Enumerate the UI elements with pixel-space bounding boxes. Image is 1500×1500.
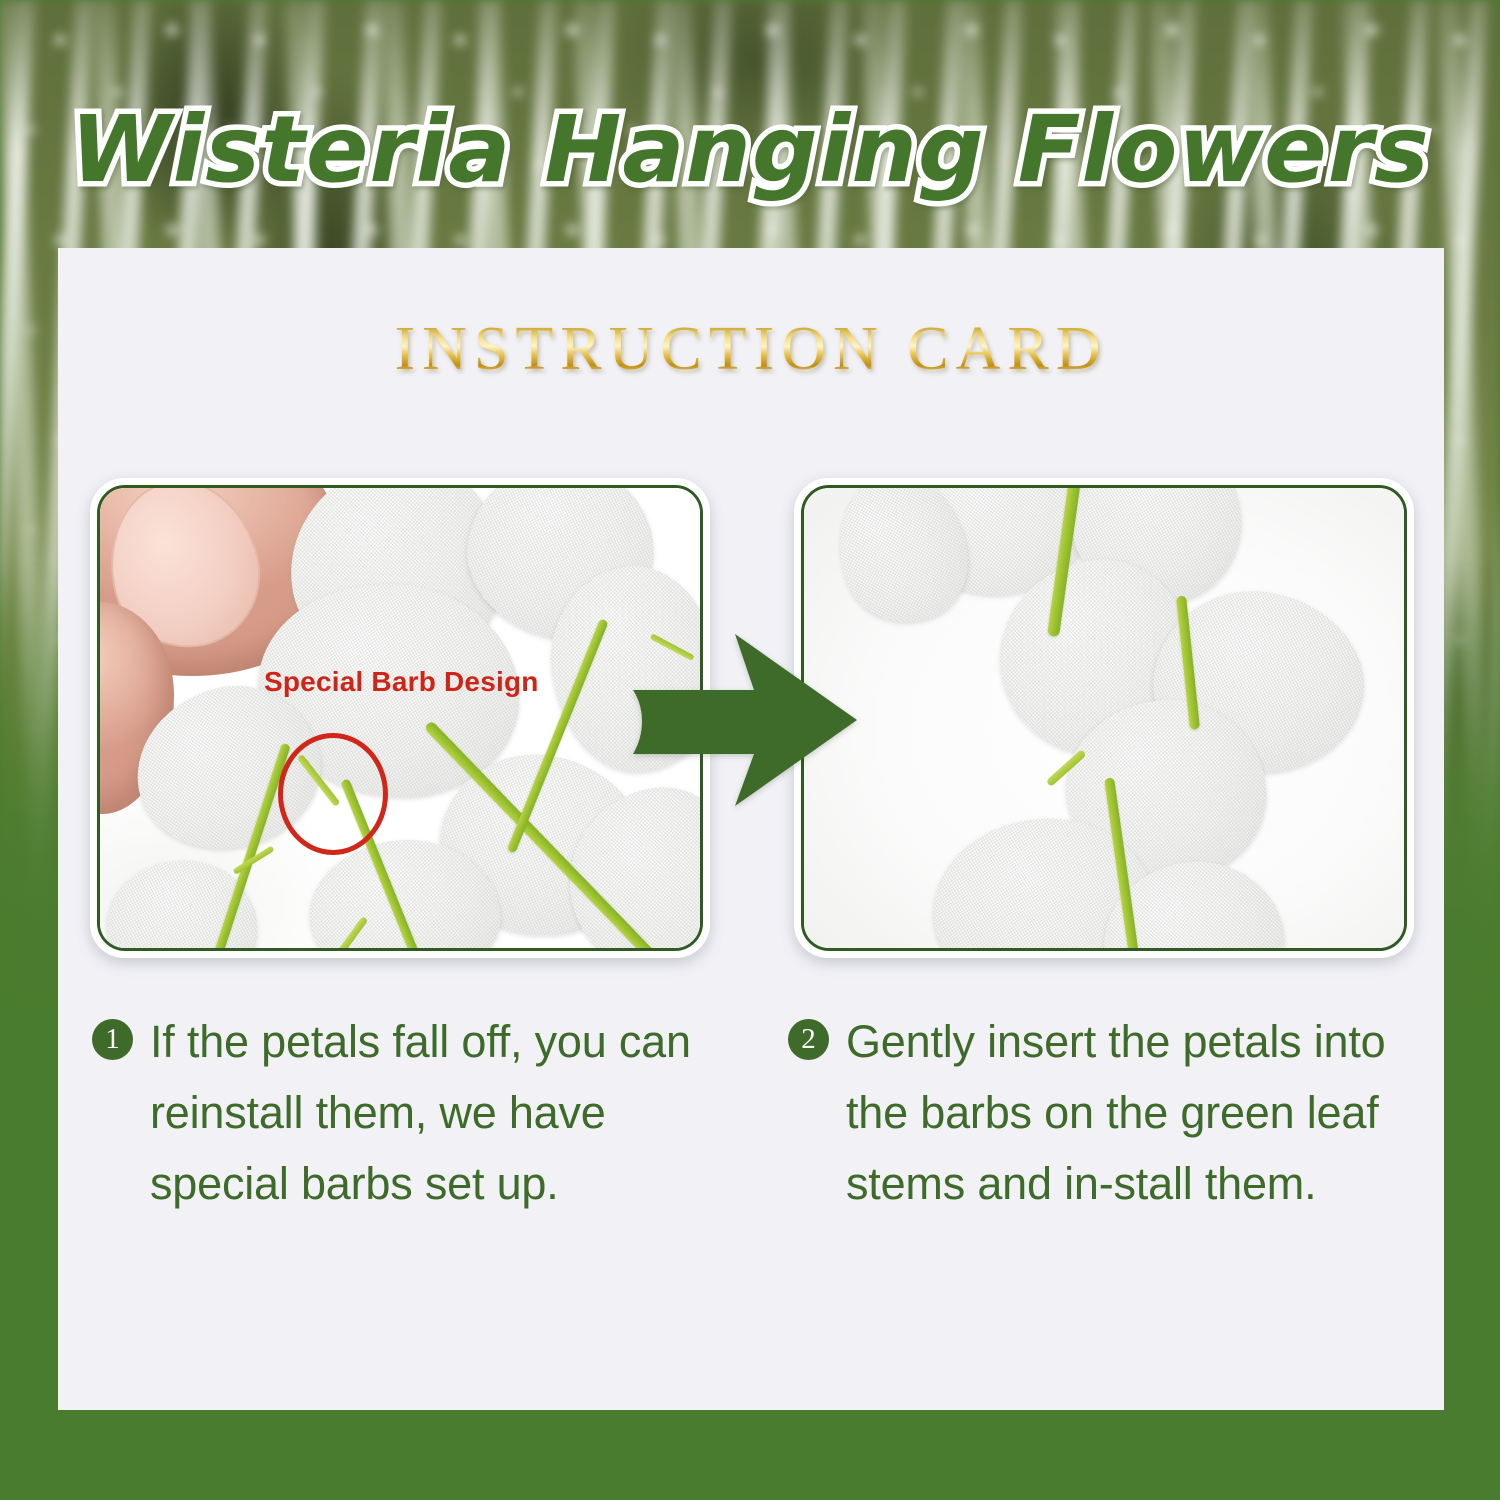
card-content: INSTRUCTION CARD <box>46 236 1456 1422</box>
step-number-badge: 2 <box>788 1019 829 1060</box>
step-item: 2 Gently insert the petals into the barb… <box>746 1006 1446 1219</box>
step-item: 1 If the petals fall off, you can reinst… <box>46 1006 746 1219</box>
step-number-badge: 1 <box>92 1019 133 1060</box>
photo-installed-petals <box>794 478 1414 958</box>
card-heading: INSTRUCTION CARD <box>394 315 1107 383</box>
card-heading-wrap: INSTRUCTION CARD <box>46 314 1456 385</box>
instruction-card: INSTRUCTION CARD <box>46 236 1456 1422</box>
barb-annotation-label: Special Barb Design <box>264 666 539 698</box>
photo-barb-closeup: Special Barb Design <box>90 478 710 958</box>
right-arrow-icon <box>631 634 859 806</box>
step-text: Gently insert the petals into the barbs … <box>846 1006 1386 1219</box>
step-text: If the petals fall off, you can reinstal… <box>150 1006 695 1219</box>
photo-barb-closeup-image: Special Barb Design <box>97 485 703 951</box>
steps-list: 1 If the petals fall off, you can reinst… <box>46 1006 1456 1219</box>
page-title-banner: Wisteria Hanging Flowers <box>0 96 1500 203</box>
instruction-card-page: Wisteria Hanging Flowers INSTRUCTION CAR… <box>0 0 1500 1500</box>
photo-installed-petals-image <box>801 485 1407 951</box>
barb-annotation-circle <box>278 733 388 855</box>
page-title: Wisteria Hanging Flowers <box>70 96 1430 203</box>
